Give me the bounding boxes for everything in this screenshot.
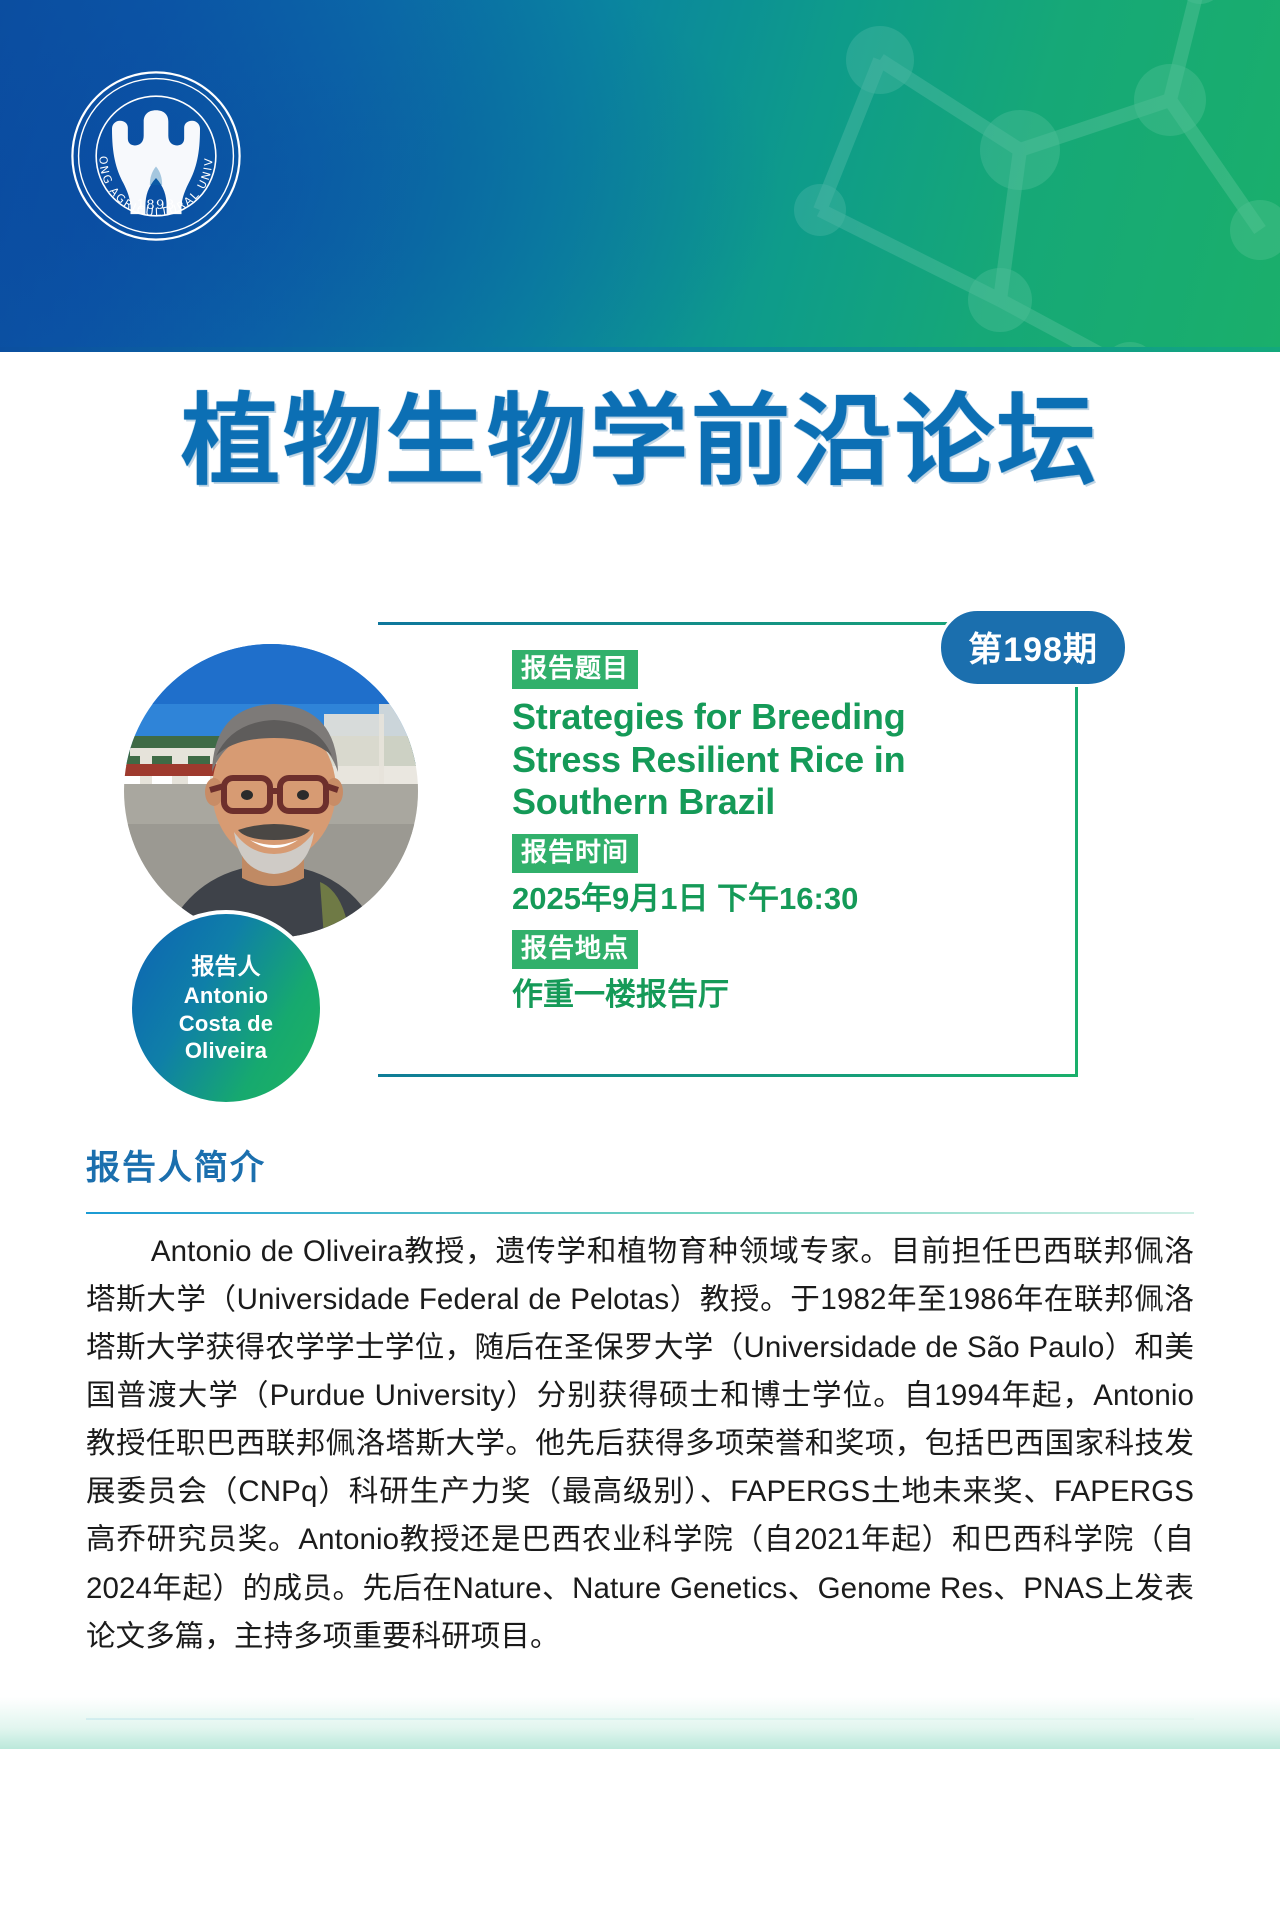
talk-venue-tag: 报告地点 <box>512 930 638 969</box>
speaker-name-badge: 报告人 Antonio Costa de Oliveira <box>128 910 324 1106</box>
talk-time-value: 2025年9月1日 下午16:30 <box>512 880 1012 919</box>
footer-bar: 主办单位： 华中农业大学生命科学技术学院 植物科学技术学院 作物遗传改良全国重点… <box>0 1749 1280 1921</box>
speaker-name-line-1: Antonio <box>184 982 268 1009</box>
speaker-name-line-3: Oliveira <box>185 1037 267 1064</box>
speaker-name-line-2: Costa de <box>179 1010 274 1037</box>
talk-venue-value: 作重一楼报告厅 <box>512 976 1012 1015</box>
talk-title-tag: 报告题目 <box>512 650 638 689</box>
talk-title: Strategies for Breeding Stress Resilient… <box>512 696 1012 823</box>
footer-organizers-line-1: 主办单位： 华中农业大学生命科学技术学院 植物科学技术学院 <box>239 1789 1041 1828</box>
talk-details: 报告题目 Strategies for Breeding Stress Resi… <box>512 650 1012 1027</box>
header-accent-rule <box>0 347 1280 352</box>
poster-root: 1898 HUAZHONG AGRICULTURAL UNIVERSITY 植物… <box>0 0 1280 1921</box>
university-logo-icon: 1898 HUAZHONG AGRICULTURAL UNIVERSITY <box>68 68 244 244</box>
header-banner: 1898 HUAZHONG AGRICULTURAL UNIVERSITY <box>0 0 1280 352</box>
talk-time-tag: 报告时间 <box>512 834 638 873</box>
bio-text: Antonio de Oliveira教授，遗传学和植物育种领域专家。目前担任巴… <box>86 1228 1194 1661</box>
bio-divider-top <box>86 1212 1194 1214</box>
speaker-role-label: 报告人 <box>192 952 261 981</box>
bio-heading: 报告人简介 <box>86 1140 266 1189</box>
molecule-decoration <box>700 0 1280 352</box>
speaker-portrait <box>118 638 424 944</box>
issue-number-badge: 第198期 <box>938 608 1128 687</box>
page-title: 植物生物学前沿论坛 <box>0 392 1280 491</box>
footer-organizers-line-2: 作物遗传改良全国重点实验室 湖北洪山实验室 <box>343 1842 938 1881</box>
footer-fade <box>0 1697 1280 1749</box>
